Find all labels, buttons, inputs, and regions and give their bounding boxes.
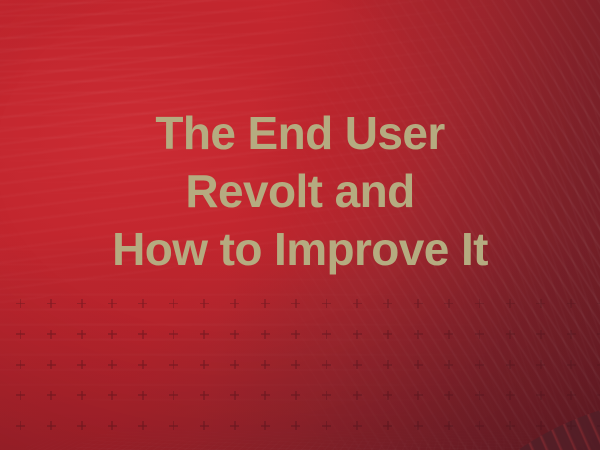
plus-mark-icon [414, 360, 423, 369]
plus-mark-icon [77, 330, 86, 339]
plus-mark-icon [169, 330, 178, 339]
plus-mark-icon [322, 421, 331, 430]
plus-mark-icon [261, 299, 270, 308]
plus-mark-icon [291, 330, 300, 339]
plus-mark-icon [47, 360, 56, 369]
plus-mark-icon [77, 421, 86, 430]
plus-mark-icon [169, 299, 178, 308]
plus-mark-icon [108, 391, 117, 400]
plus-mark-icon [47, 330, 56, 339]
plus-mark-icon [291, 299, 300, 308]
plus-mark-icon [16, 299, 25, 308]
plus-mark-icon [536, 360, 545, 369]
plus-mark-icon [353, 299, 362, 308]
plus-mark-icon [200, 360, 209, 369]
plus-mark-icon [414, 391, 423, 400]
page-title: The End User Revolt and How to Improve I… [0, 104, 600, 278]
plus-mark-icon [567, 330, 576, 339]
plus-mark-grid [0, 292, 600, 450]
plus-mark-icon [567, 391, 576, 400]
plus-mark-icon [108, 421, 117, 430]
plus-mark-icon [261, 391, 270, 400]
title-line-3: How to Improve It [0, 220, 600, 278]
plus-mark-icon [108, 360, 117, 369]
plus-mark-icon [414, 330, 423, 339]
plus-mark-icon [230, 360, 239, 369]
plus-mark-icon [475, 360, 484, 369]
plus-mark-icon [169, 360, 178, 369]
plus-mark-icon [169, 391, 178, 400]
plus-mark-icon [138, 391, 147, 400]
plus-mark-icon [47, 299, 56, 308]
plus-mark-icon [322, 330, 331, 339]
plus-mark-icon [138, 360, 147, 369]
plus-mark-icon [414, 299, 423, 308]
plus-mark-icon [475, 299, 484, 308]
plus-mark-icon [261, 360, 270, 369]
plus-mark-icon [536, 391, 545, 400]
plus-mark-icon [475, 391, 484, 400]
plus-mark-icon [353, 391, 362, 400]
plus-mark-icon [77, 299, 86, 308]
plus-mark-icon [77, 391, 86, 400]
plus-mark-icon [200, 330, 209, 339]
plus-mark-icon [16, 421, 25, 430]
plus-mark-icon [353, 421, 362, 430]
plus-mark-icon [138, 330, 147, 339]
plus-mark-icon [138, 421, 147, 430]
plus-mark-icon [108, 299, 117, 308]
plus-mark-icon [230, 421, 239, 430]
plus-mark-icon [536, 299, 545, 308]
plus-mark-icon [506, 299, 515, 308]
plus-mark-icon [47, 391, 56, 400]
plus-mark-icon [506, 421, 515, 430]
plus-mark-icon [353, 330, 362, 339]
plus-mark-icon [291, 360, 300, 369]
plus-mark-icon [383, 360, 392, 369]
plus-mark-icon [383, 299, 392, 308]
plus-mark-icon [230, 330, 239, 339]
plus-mark-icon [261, 330, 270, 339]
plus-mark-icon [506, 391, 515, 400]
plus-mark-icon [230, 299, 239, 308]
plus-mark-icon [414, 421, 423, 430]
plus-mark-icon [444, 330, 453, 339]
plus-mark-icon [200, 299, 209, 308]
plus-mark-icon [16, 360, 25, 369]
plus-mark-icon [536, 330, 545, 339]
plus-mark-icon [383, 421, 392, 430]
plus-mark-icon [200, 421, 209, 430]
plus-mark-icon [47, 421, 56, 430]
plus-mark-icon [16, 330, 25, 339]
plus-mark-icon [200, 391, 209, 400]
plus-mark-icon [475, 330, 484, 339]
plus-mark-icon [444, 360, 453, 369]
title-line-1: The End User [0, 104, 600, 162]
plus-mark-icon [322, 391, 331, 400]
plus-mark-icon [475, 421, 484, 430]
plus-mark-icon [291, 391, 300, 400]
plus-mark-icon [261, 421, 270, 430]
plus-mark-icon [383, 391, 392, 400]
plus-mark-icon [322, 360, 331, 369]
plus-mark-icon [444, 299, 453, 308]
plus-mark-icon [567, 421, 576, 430]
plus-mark-icon [536, 421, 545, 430]
plus-mark-icon [138, 299, 147, 308]
plus-mark-icon [383, 330, 392, 339]
plus-mark-icon [230, 391, 239, 400]
plus-mark-icon [108, 330, 117, 339]
plus-mark-icon [444, 421, 453, 430]
plus-mark-icon [444, 391, 453, 400]
plus-mark-icon [291, 421, 300, 430]
plus-mark-icon [506, 360, 515, 369]
plus-mark-icon [567, 360, 576, 369]
plus-mark-icon [353, 360, 362, 369]
title-line-2: Revolt and [0, 162, 600, 220]
plus-mark-icon [322, 299, 331, 308]
plus-mark-icon [169, 421, 178, 430]
plus-mark-icon [567, 299, 576, 308]
title-slide: The End User Revolt and How to Improve I… [0, 0, 600, 450]
plus-mark-icon [16, 391, 25, 400]
plus-mark-icon [77, 360, 86, 369]
plus-mark-icon [506, 330, 515, 339]
